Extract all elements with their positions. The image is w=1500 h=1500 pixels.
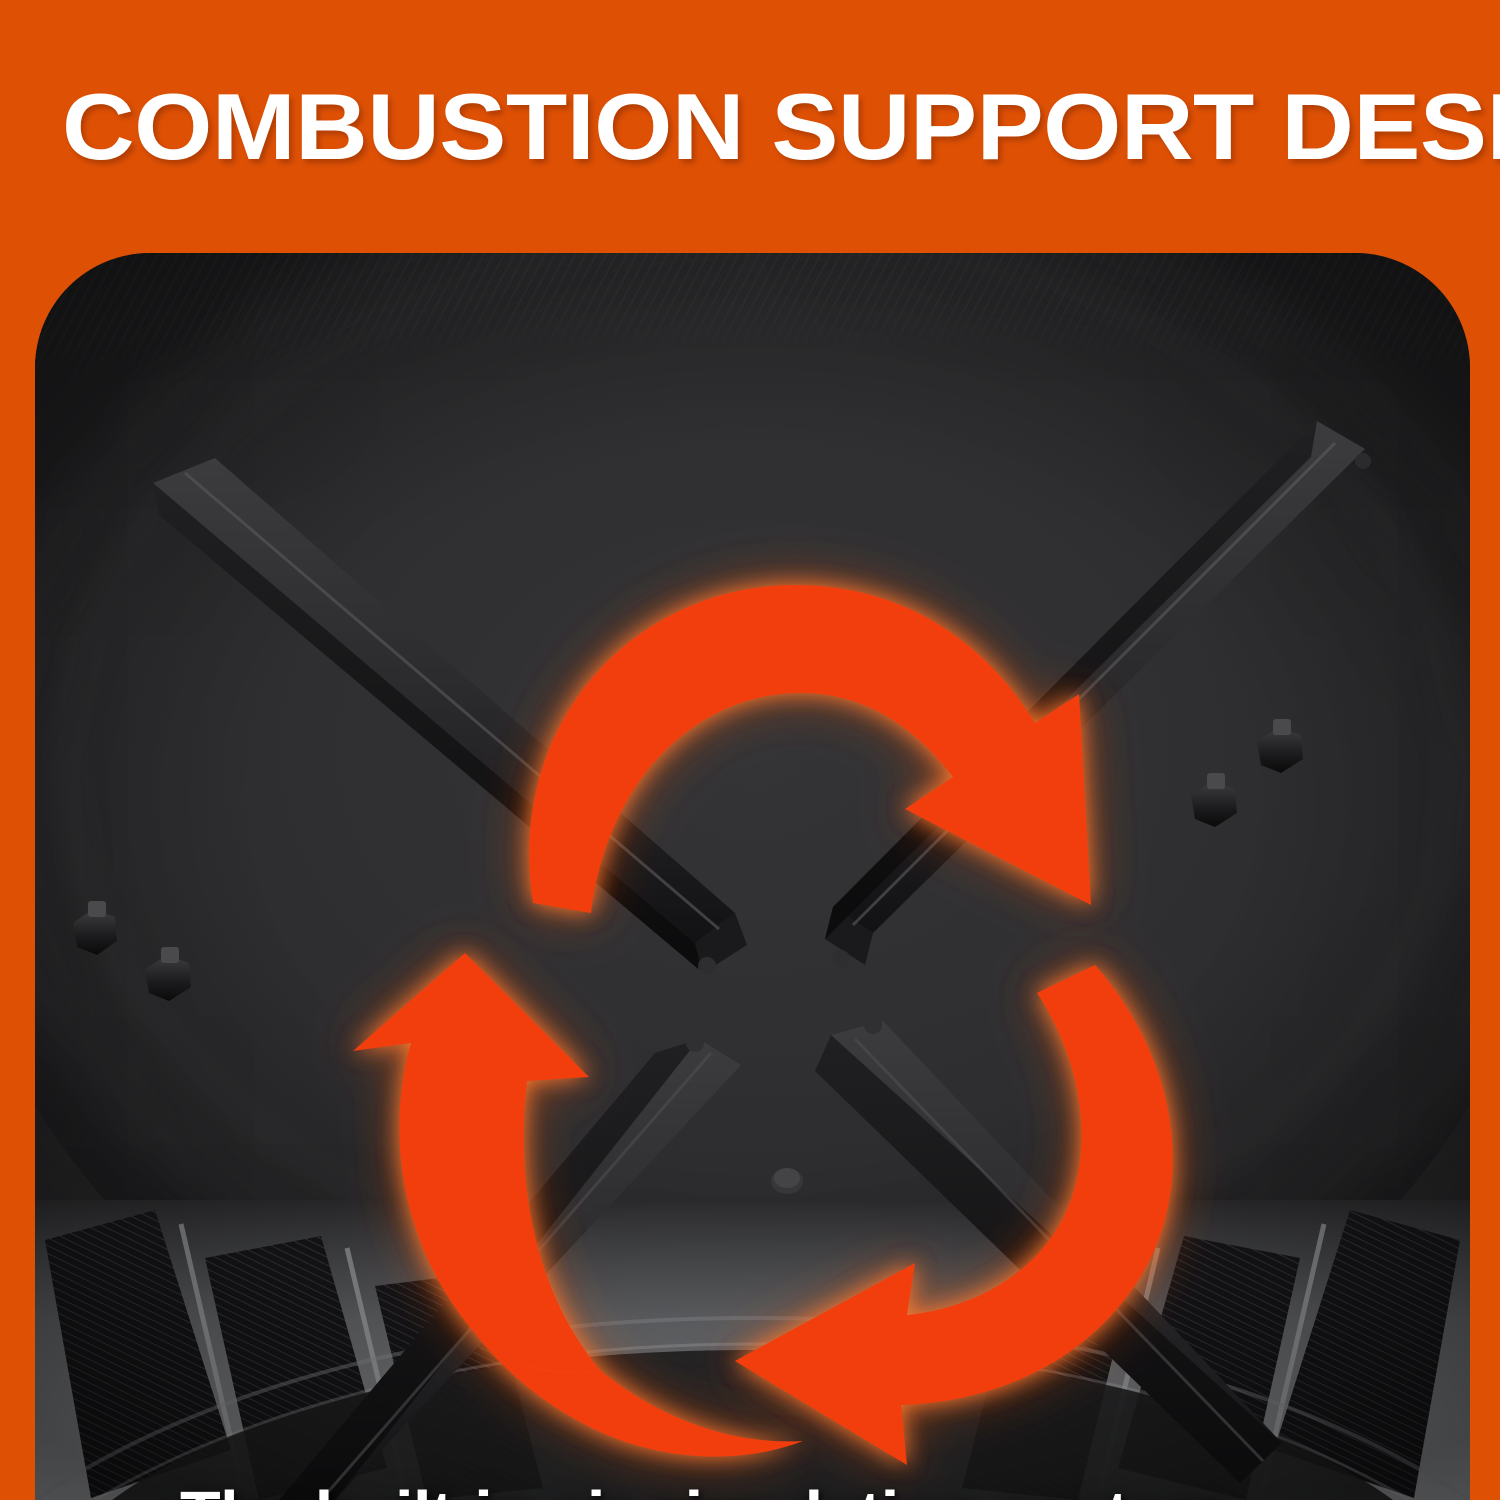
fire-pit-bowl-photo: The built-in air circulation system prov… (35, 253, 1470, 1500)
airflow-arrow-top-right (529, 585, 1091, 913)
airflow-arrow-bottom-left (735, 965, 1173, 1465)
airflow-arrow-left-up (353, 953, 803, 1457)
title-banner: COMBUSTION SUPPORT DESIGN (0, 0, 1500, 253)
page-title: COMBUSTION SUPPORT DESIGN (0, 80, 1500, 174)
feature-caption: The built-in air circulation system prov… (180, 1481, 1459, 1500)
product-feature-poster: COMBUSTION SUPPORT DESIGN (0, 0, 1500, 1500)
airflow-arrow-group (35, 253, 1470, 1500)
